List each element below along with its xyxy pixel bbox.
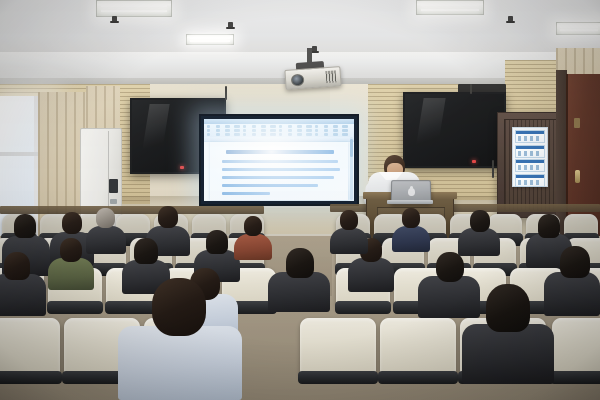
document-page: [210, 142, 348, 200]
audience-member-9-head: [286, 248, 314, 278]
monitor-cable-drop: [492, 160, 494, 178]
audience-member-1: [14, 214, 36, 238]
audience-member-14: [340, 210, 358, 230]
toolbar-button[interactable]: [225, 129, 230, 132]
audience-member-12-shoulders: [462, 324, 554, 384]
projector-lens-icon: [291, 74, 305, 87]
toolbar-button[interactable]: [342, 129, 348, 132]
audience-member-11: [436, 252, 464, 282]
sprinkler-head-2: [228, 22, 233, 29]
toolbar-button[interactable]: [270, 129, 276, 132]
audience-member-13-head: [152, 278, 206, 336]
ceiling-light-panel-2: [416, 0, 484, 15]
ceiling-light-panel-4: [186, 34, 234, 45]
audience-member-14-shoulders: [330, 228, 368, 254]
toolbar-button[interactable]: [288, 133, 292, 136]
toolbar-button[interactable]: [252, 129, 256, 132]
sprinkler-head-3: [508, 16, 513, 23]
audience-member-7: [206, 230, 228, 254]
dispenser-tap[interactable]: [110, 199, 117, 204]
toolbar-button[interactable]: [333, 133, 338, 136]
toolbar-button[interactable]: [279, 129, 282, 132]
toolbar-button[interactable]: [243, 129, 246, 132]
audience-member-20-shoulders: [0, 274, 46, 316]
auditorium-seat[interactable]: [552, 318, 600, 378]
notice-row: [515, 159, 545, 172]
desk-row-left: [0, 206, 264, 214]
audience-member-18-shoulders: [234, 234, 272, 260]
sprinkler-head-4: [312, 46, 317, 53]
toolbar-button[interactable]: [333, 129, 338, 132]
auditorium-seat[interactable]: [564, 214, 598, 240]
toolbar-button[interactable]: [261, 133, 266, 136]
audience-member-4: [96, 208, 115, 228]
toolbar-button[interactable]: [315, 125, 318, 128]
document-scrollbar[interactable]: [350, 137, 353, 200]
toolbar-button[interactable]: [324, 133, 328, 136]
toolbar-button[interactable]: [243, 133, 246, 136]
auditorium-seat[interactable]: [300, 318, 376, 378]
audience-member-15-shoulders: [392, 226, 430, 252]
audience-member-13: [152, 278, 206, 336]
projector-vent: [326, 70, 337, 83]
toolbar-button[interactable]: [342, 125, 348, 128]
audience-member-6-head: [60, 238, 82, 262]
audience-member-5-head: [134, 238, 158, 264]
toolbar-button[interactable]: [234, 129, 240, 132]
auditorium-seat[interactable]: [380, 318, 456, 378]
monitor-cable-left: [225, 86, 227, 100]
apple-logo-icon: [407, 188, 414, 196]
audience-member-1-head: [14, 214, 36, 238]
window-mullion: [0, 152, 42, 156]
toolbar-button[interactable]: [270, 133, 276, 136]
audience-member-19-shoulders: [544, 272, 600, 316]
toolbar-button[interactable]: [297, 129, 302, 132]
audience-member-16-head: [470, 210, 490, 232]
toolbar-button[interactable]: [306, 133, 312, 136]
toolbar-button[interactable]: [207, 133, 210, 136]
toolbar-button[interactable]: [279, 125, 282, 128]
auditorium-seat[interactable]: [0, 318, 60, 378]
audience-member-14-head: [340, 210, 358, 230]
toolbar-button[interactable]: [252, 133, 256, 136]
toolbar-button[interactable]: [288, 125, 292, 128]
laptop-base: [387, 200, 433, 204]
ceiling-light-panel-1: [96, 0, 172, 17]
document-toolbar[interactable]: [204, 124, 354, 138]
toolbar-button[interactable]: [315, 129, 318, 132]
audience-member-4-head: [96, 208, 115, 228]
toolbar-button[interactable]: [252, 125, 256, 128]
toolbar-button[interactable]: [234, 125, 240, 128]
audience-member-17-head: [538, 214, 560, 238]
door-hinge: [574, 118, 580, 128]
audience-member-3-head: [158, 206, 178, 228]
toolbar-button[interactable]: [288, 129, 292, 132]
sprinkler-head-1: [112, 16, 117, 23]
toolbar-button[interactable]: [225, 133, 230, 136]
toolbar-button[interactable]: [207, 129, 210, 132]
audience-member-9-shoulders: [268, 272, 330, 312]
ceiling-light-panel-3: [556, 22, 600, 35]
audience-member-5: [134, 238, 158, 264]
toolbar-button[interactable]: [261, 125, 266, 128]
toolbar-button[interactable]: [342, 133, 348, 136]
doc-body-line-2: [222, 168, 340, 171]
audience-member-12-head: [486, 284, 530, 332]
notice-row: [515, 174, 545, 187]
toolbar-button[interactable]: [297, 125, 302, 128]
audience-member-11-head: [436, 252, 464, 282]
power-led-icon: [180, 166, 184, 169]
power-led-icon: [472, 160, 476, 163]
projection-screen[interactable]: [204, 119, 354, 201]
audience-member-2: [62, 212, 82, 234]
notice-row: [515, 145, 545, 158]
audience-member-9: [286, 248, 314, 278]
toolbar-button[interactable]: [216, 125, 220, 128]
audience-member-10-shoulders: [348, 258, 394, 292]
presenter-collar: [379, 172, 403, 180]
audience-member-6: [60, 238, 82, 262]
wall-monitor-right[interactable]: [403, 92, 506, 168]
toolbar-button[interactable]: [270, 125, 276, 128]
audience-member-17: [538, 214, 560, 238]
audience-member-18: [244, 216, 262, 236]
notice-row: [515, 130, 545, 143]
dispenser-control-panel[interactable]: [109, 179, 118, 193]
audience-member-2-head: [62, 212, 82, 234]
toolbar-button[interactable]: [324, 129, 328, 132]
doc-body-line-4: [222, 184, 318, 187]
audience-member-19-head: [560, 246, 590, 278]
audience-member-7-head: [206, 230, 228, 254]
doc-body-line-1: [222, 160, 338, 163]
doc-heading-line: [226, 150, 334, 154]
audience-member-19: [560, 246, 590, 278]
audience-member-12: [486, 284, 530, 332]
conference-room-photo: [0, 0, 600, 400]
toolbar-button[interactable]: [297, 133, 302, 136]
toolbar-button[interactable]: [315, 133, 318, 136]
monitor-cable-right: [470, 84, 472, 94]
toolbar-button[interactable]: [207, 125, 210, 128]
toolbar-button[interactable]: [234, 133, 240, 136]
scrollbar-thumb[interactable]: [350, 139, 353, 157]
audience-member-15-head: [402, 208, 420, 228]
notice-board: [512, 127, 548, 187]
toolbar-button[interactable]: [216, 133, 220, 136]
audience-member-18-head: [244, 216, 262, 236]
doc-body-line-3: [222, 176, 334, 179]
toolbar-button[interactable]: [306, 129, 312, 132]
screen-glare: [140, 104, 170, 163]
projection-screen-frame: [199, 114, 359, 206]
toolbar-button[interactable]: [324, 125, 328, 128]
toolbar-button[interactable]: [306, 125, 312, 128]
audience-member-16: [470, 210, 490, 232]
audience-member-16-shoulders: [458, 228, 500, 256]
ceiling-projector[interactable]: [284, 66, 341, 90]
toolbar-button[interactable]: [216, 129, 220, 132]
audience-member-20-head: [4, 252, 30, 280]
audience-member-13-shoulders: [118, 326, 242, 400]
audience-member-3: [158, 206, 178, 228]
toolbar-button[interactable]: [279, 133, 282, 136]
toolbar-button[interactable]: [333, 125, 338, 128]
screen-glare: [414, 98, 445, 157]
audience-member-6-shoulders: [48, 258, 94, 290]
toolbar-button[interactable]: [243, 125, 246, 128]
doc-body-line-5: [222, 192, 270, 195]
door-handle[interactable]: [575, 170, 580, 183]
toolbar-button[interactable]: [261, 129, 266, 132]
audience-member-11-shoulders: [418, 276, 480, 318]
audience-member-20: [4, 252, 30, 280]
audience-member-4-shoulders: [86, 226, 126, 254]
toolbar-button[interactable]: [225, 125, 230, 128]
audience-member-15: [402, 208, 420, 228]
